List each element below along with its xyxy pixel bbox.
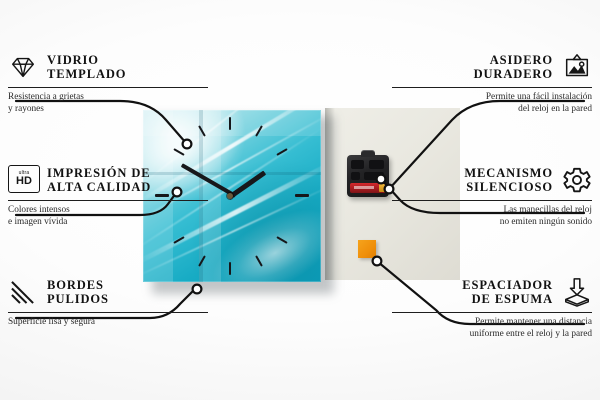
feature-header: ASIDERO DURADERO [392,50,592,84]
feature-title: ESPACIADOR DE ESPUMA [462,278,553,306]
feature-description: Permite mantener una distancia uniforme … [392,317,592,340]
feature-title: VIDRIO TEMPLADO [47,53,126,81]
battery-label [354,186,374,189]
mechanism-detail [364,172,384,180]
feature-title: ASIDERO DURADERO [474,53,553,81]
feature-divider [8,87,208,88]
feature-header: ultra HD IMPRESIÓN DE ALTA CALIDAD [8,163,208,197]
feature-description: Resistencia a grietas y rayones [8,92,208,115]
feature-divider [8,312,208,313]
diamond-icon [8,52,38,82]
feature-divider [392,312,592,313]
feature-description: Las manecillas del reloj no emiten ningú… [392,205,592,228]
feature-header: BORDES PULIDOS [8,275,208,309]
feature-foam-spacer: ESPACIADOR DE ESPUMA Permite mantener un… [392,275,592,340]
feature-title: IMPRESIÓN DE ALTA CALIDAD [47,166,151,194]
mechanism-detail [369,160,384,169]
feature-polished-edges: BORDES PULIDOS Superficie lisa y segura [8,275,208,329]
arrow-press-pad-icon [562,277,592,307]
feature-silent-mechanism: MECANISMO SILENCIOSO Las manecillas del … [392,163,592,228]
feature-divider [8,200,208,201]
feature-hd-print: ultra HD IMPRESIÓN DE ALTA CALIDAD Color… [8,163,208,228]
feature-description: Superficie lisa y segura [8,317,208,329]
feature-description: Permite una fácil instalación del reloj … [392,92,592,115]
mechanism-shaft [361,150,375,157]
hour-marker-3 [295,194,309,197]
feature-header: VIDRIO TEMPLADO [8,50,208,84]
mechanism-detail [351,160,364,169]
feature-tempered-glass: VIDRIO TEMPLADO Resistencia a grietas y … [8,50,208,115]
ultra-hd-icon: ultra HD [8,165,38,195]
feature-header: MECANISMO SILENCIOSO [392,163,592,197]
feature-divider [392,87,592,88]
diagonal-stripes-icon [8,277,38,307]
product-infographic: VIDRIO TEMPLADO Resistencia a grietas y … [0,0,600,400]
clock-hub [227,193,233,199]
feature-description: Colores intensos e imagen vívida [8,205,208,228]
feature-divider [392,200,592,201]
feature-title: BORDES PULIDOS [47,278,109,306]
gear-icon [562,165,592,195]
feature-durable-hanger: ASIDERO DURADERO Permite una fácil insta… [392,50,592,115]
feature-title: MECANISMO SILENCIOSO [464,166,553,194]
hour-marker-6 [229,262,231,275]
clock-battery [350,183,386,193]
picture-frame-icon [562,52,592,82]
feature-header: ESPACIADOR DE ESPUMA [392,275,592,309]
battery-terminal [379,184,385,192]
mechanism-detail [351,172,360,180]
clock-mechanism [347,155,389,197]
hour-marker-12 [229,117,231,130]
foam-spacer-sample [358,240,376,258]
